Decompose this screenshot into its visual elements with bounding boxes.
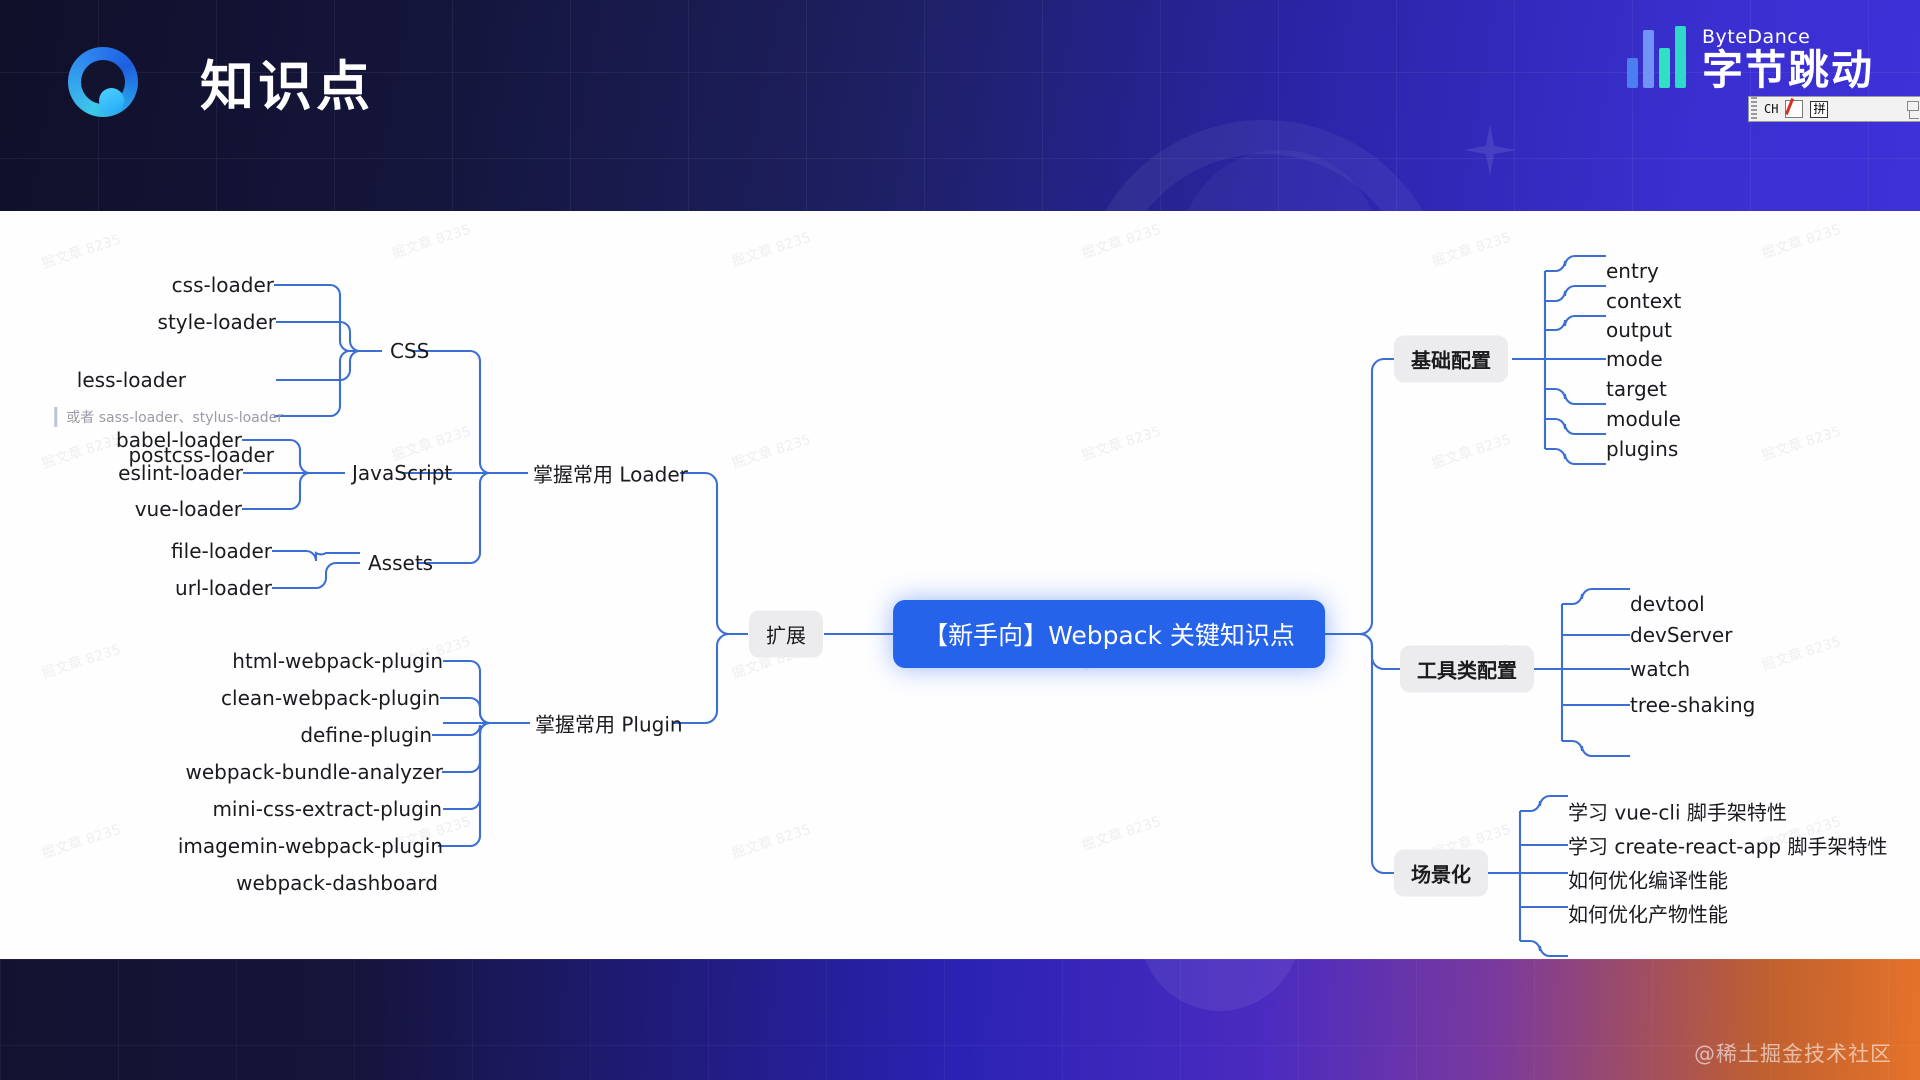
footer-gradient-band: @稀土掘金技术社区	[0, 959, 1920, 1080]
slide: 知识点 ByteDance 字节跳动 CH 拼 掘文章 8235 掘文章 823…	[0, 0, 1920, 1080]
slide-footer: @稀土掘金技术社区	[0, 0, 1920, 1080]
footer-watermark: @稀土掘金技术社区	[1694, 1038, 1892, 1068]
footer-grid-pattern	[0, 959, 1920, 1080]
